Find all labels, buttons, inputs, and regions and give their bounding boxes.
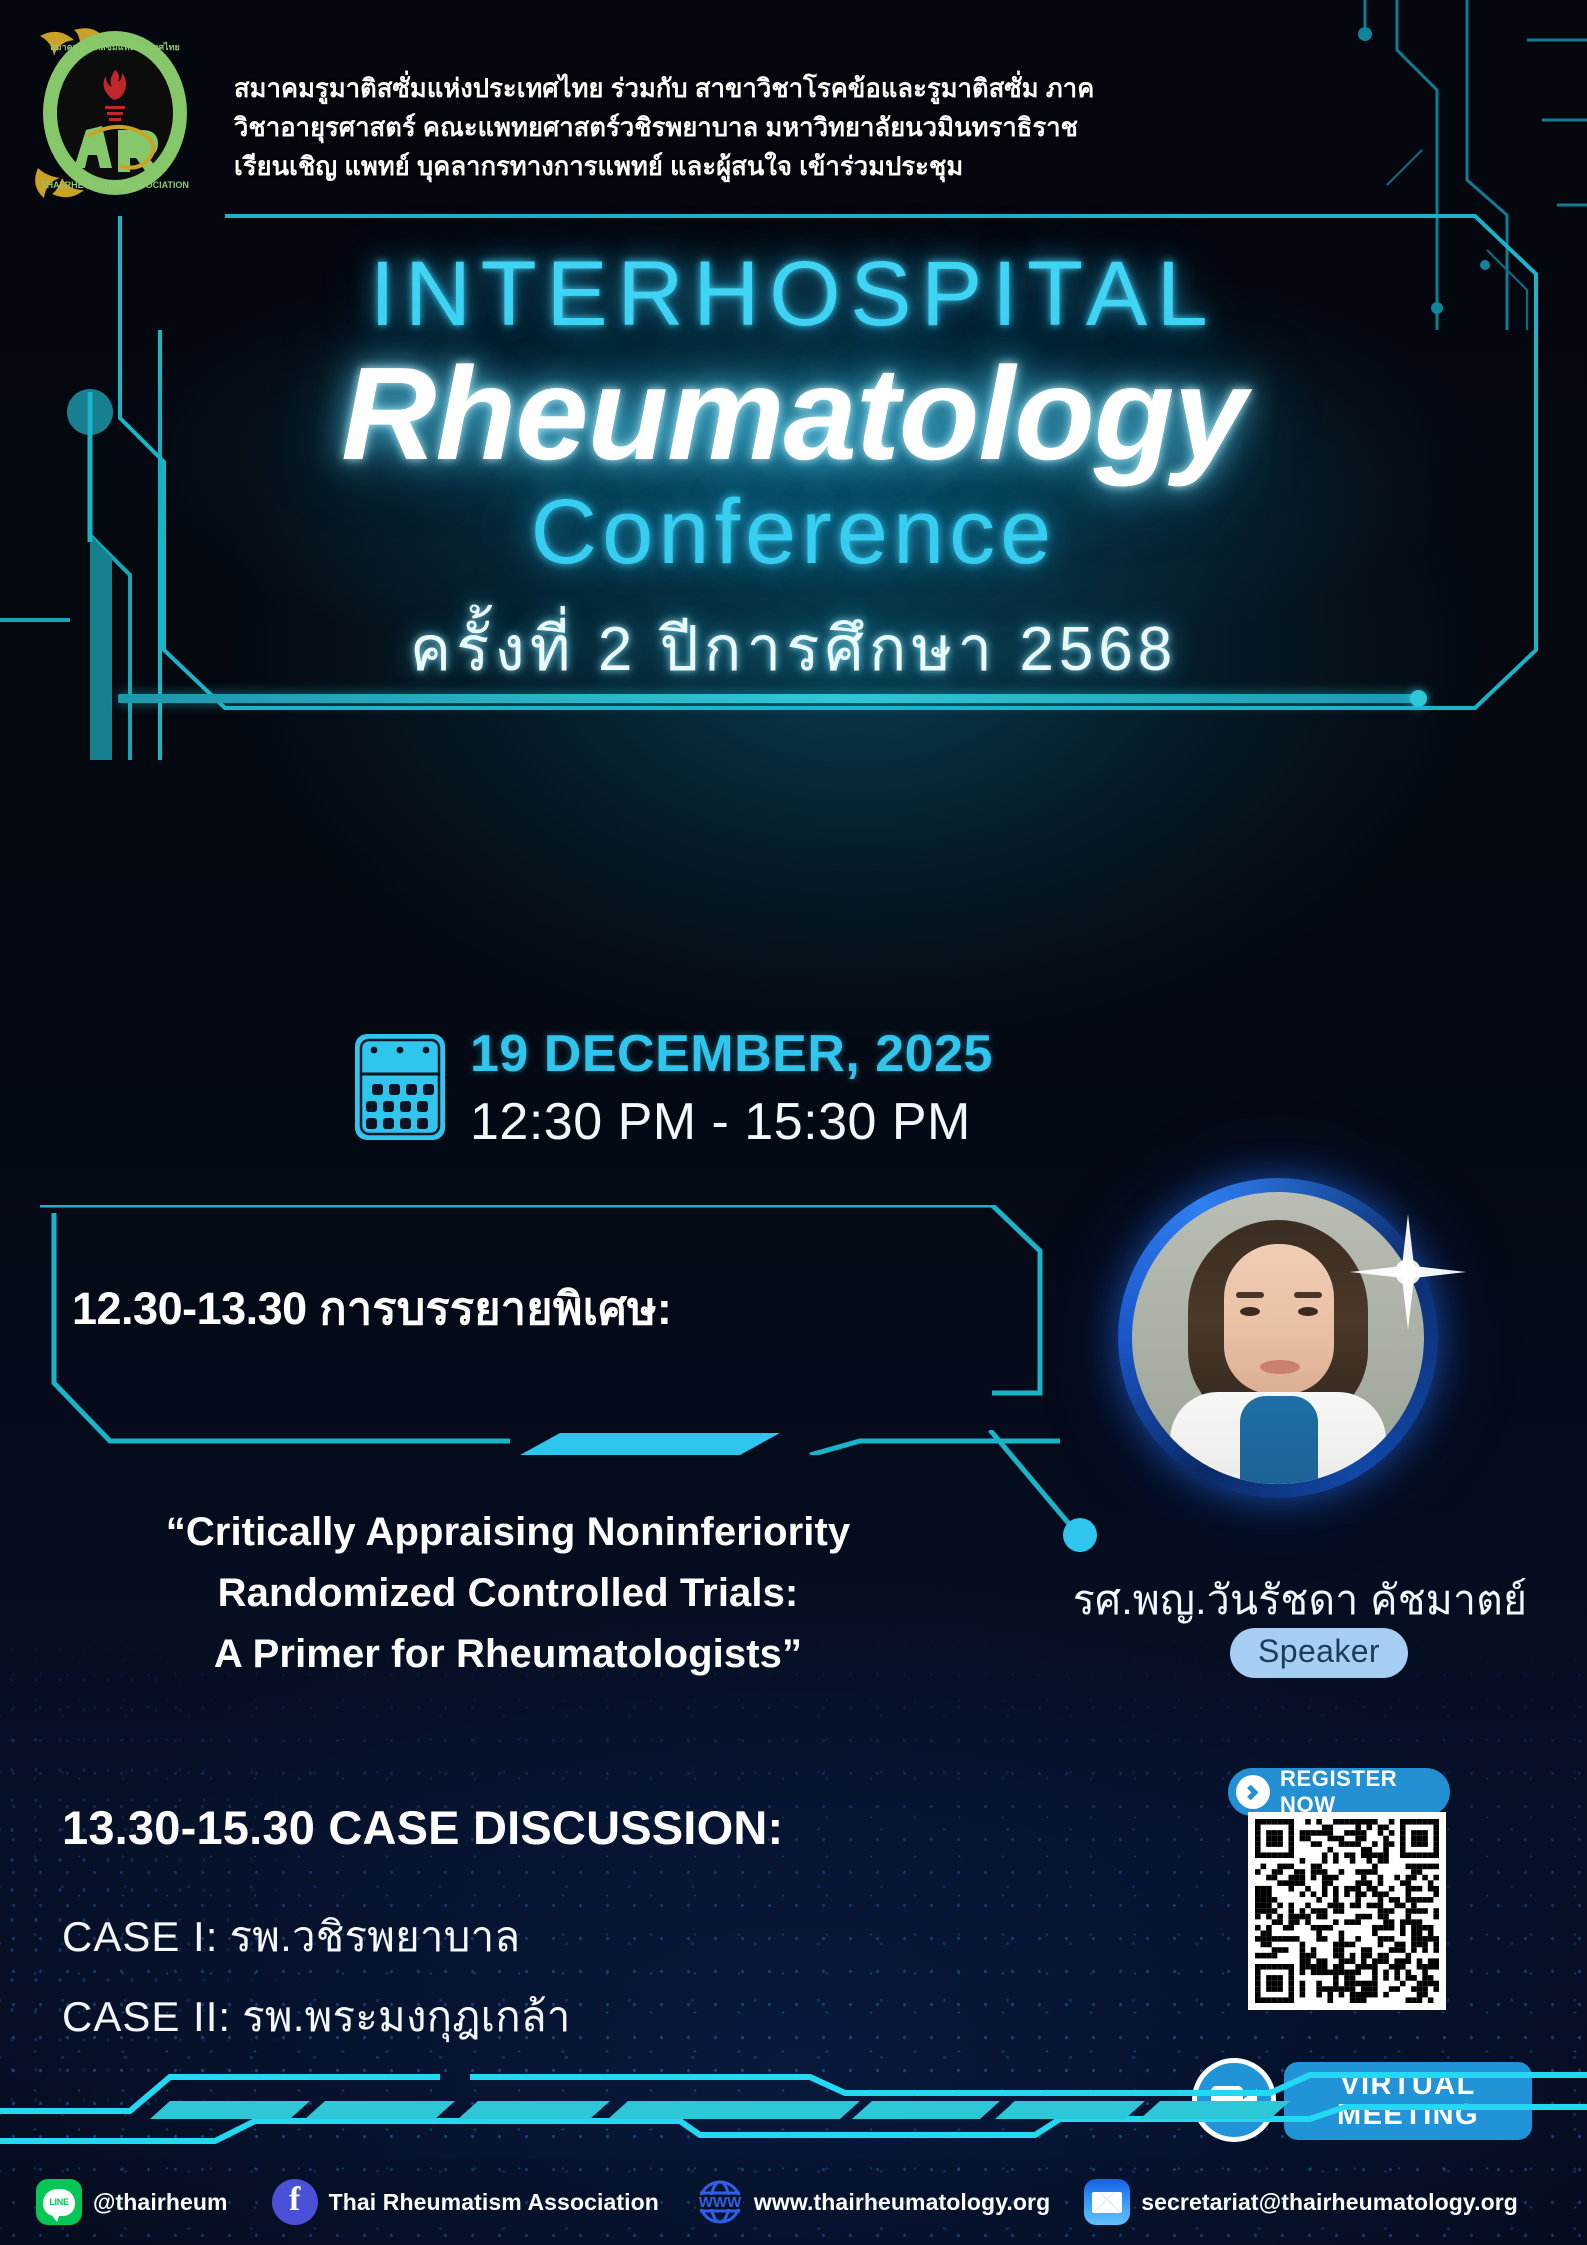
footer-item-facebook[interactable]: f Thai Rheumatism Association [272,2179,659,2225]
footer-website-label: www.thairheumatology.org [754,2189,1050,2216]
lecture-title: “Critically Appraising Noninferiority Ra… [28,1502,988,1684]
portrait-brow-right [1294,1292,1322,1298]
lecture-time-range: 12.30-13.30 [72,1283,307,1334]
footer-bar: LINE @thairheum f Thai Rheumatism Associ… [0,2159,1587,2245]
footer-facebook-label: Thai Rheumatism Association [329,2189,659,2216]
circuit-decoration-bottom [0,2049,1587,2159]
case-item-2-sep: : [218,1993,230,2040]
footer-line-label: @thairheum [93,2189,228,2216]
svg-text:THAI RHEUMATISM ASSOCIATION: THAI RHEUMATISM ASSOCIATION [41,180,189,190]
portrait-lips [1260,1360,1300,1374]
case-item-1: CASE I: รพ.วชิรพยาบาล [62,1904,520,1970]
register-now-button[interactable]: REGISTER NOW [1228,1768,1450,1816]
case-item-2: CASE II: รพ.พระมงกุฎเกล้า [62,1984,571,2050]
date-time-block: 19 DECEMBER, 2025 12:30 PM - 15:30 PM [352,1020,1172,1180]
portrait-shirt [1240,1396,1318,1484]
email-icon [1084,2179,1130,2225]
lecture-title-line-3: A Primer for Rheumatologists” [28,1624,988,1685]
hero-line-interhospital: INTERHOSPITAL [0,242,1587,347]
registration-qr-code[interactable] [1248,1812,1446,2010]
association-logo: สมาคมรูมาติสซั่มแห่งประเทศไทย THAI RHEUM… [22,18,208,204]
hero-divider-dot [1410,690,1427,707]
case-item-1-sep: : [206,1913,218,1960]
case-item-2-value: รพ.พระมงกุฎเกล้า [242,1993,570,2040]
organizer-line-2: วิชาอายุรศาสตร์ คณะแพทยศาสตร์วชิรพยาบาล … [234,109,1394,148]
case-discussion-heading: 13.30-15.30 CASE DISCUSSION: [62,1800,783,1855]
footer-item-line[interactable]: LINE @thairheum [36,2179,228,2225]
chevron-right-icon [1236,1775,1270,1809]
event-time: 12:30 PM - 15:30 PM [470,1092,971,1152]
svg-text:สมาคมรูมาติสซั่มแห่งประเทศไทย: สมาคมรูมาติสซั่มแห่งประเทศไทย [50,40,180,53]
hero-divider-rule [118,694,1418,703]
portrait-eye-right [1298,1307,1318,1316]
svg-text:WWW: WWW [699,2194,742,2211]
organizer-text: สมาคมรูมาติสซั่มแห่งประเทศไทย ร่วมกับ สา… [234,70,1394,186]
lecture-heading-thai: การบรรยายพิเศษ: [319,1283,672,1334]
portrait-brow-left [1236,1292,1264,1298]
event-date: 19 DECEMBER, 2025 [470,1024,993,1084]
lecture-title-line-1: “Critically Appraising Noninferiority [28,1502,988,1563]
footer-email-label: secretariat@thairheumatology.org [1141,2189,1518,2216]
hero-line-conference: Conference [0,480,1587,585]
hero-line-thai-edition: ครั้งที่ 2 ปีการศึกษา 2568 [0,600,1587,698]
case-item-1-label: CASE I [62,1913,206,1960]
speaker-name: รศ.พญ.วันรัชดา คัชมาตย์ [1020,1568,1580,1633]
conference-poster: สมาคมรูมาติสซั่มแห่งประเทศไทย THAI RHEUM… [0,0,1587,2245]
case-item-2-label: CASE II [62,1993,218,2040]
speaker-photo [1132,1192,1424,1484]
portrait-eye-left [1240,1307,1260,1316]
line-app-icon: LINE [36,2179,82,2225]
line-icon-text: LINE [49,2197,68,2207]
organizer-line-1: สมาคมรูมาติสซั่มแห่งประเทศไทย ร่วมกับ สา… [234,70,1394,109]
organizer-line-3: เรียนเชิญ แพทย์ บุคลากรทางการแพทย์ และผู… [234,148,1394,187]
hero-line-rheumatology: Rheumatology [0,338,1587,489]
lecture-heading: 12.30-13.30 การบรรยายพิเศษ: [72,1272,672,1344]
speaker-badge: Speaker [1230,1628,1408,1678]
calendar-icon [352,1028,448,1144]
lecture-title-line-2: Randomized Controlled Trials: [28,1563,988,1624]
facebook-icon: f [272,2179,318,2225]
footer-item-email[interactable]: secretariat@thairheumatology.org [1084,2179,1518,2225]
www-globe-icon: WWW [697,2179,743,2225]
poster-header: สมาคมรูมาติสซั่มแห่งประเทศไทย THAI RHEUM… [22,18,1542,208]
case-item-1-value: รพ.วชิรพยาบาล [229,1913,520,1960]
register-now-label: REGISTER NOW [1280,1766,1450,1818]
footer-item-website[interactable]: WWW www.thairheumatology.org [697,2179,1050,2225]
facebook-icon-text: f [289,2183,300,2217]
